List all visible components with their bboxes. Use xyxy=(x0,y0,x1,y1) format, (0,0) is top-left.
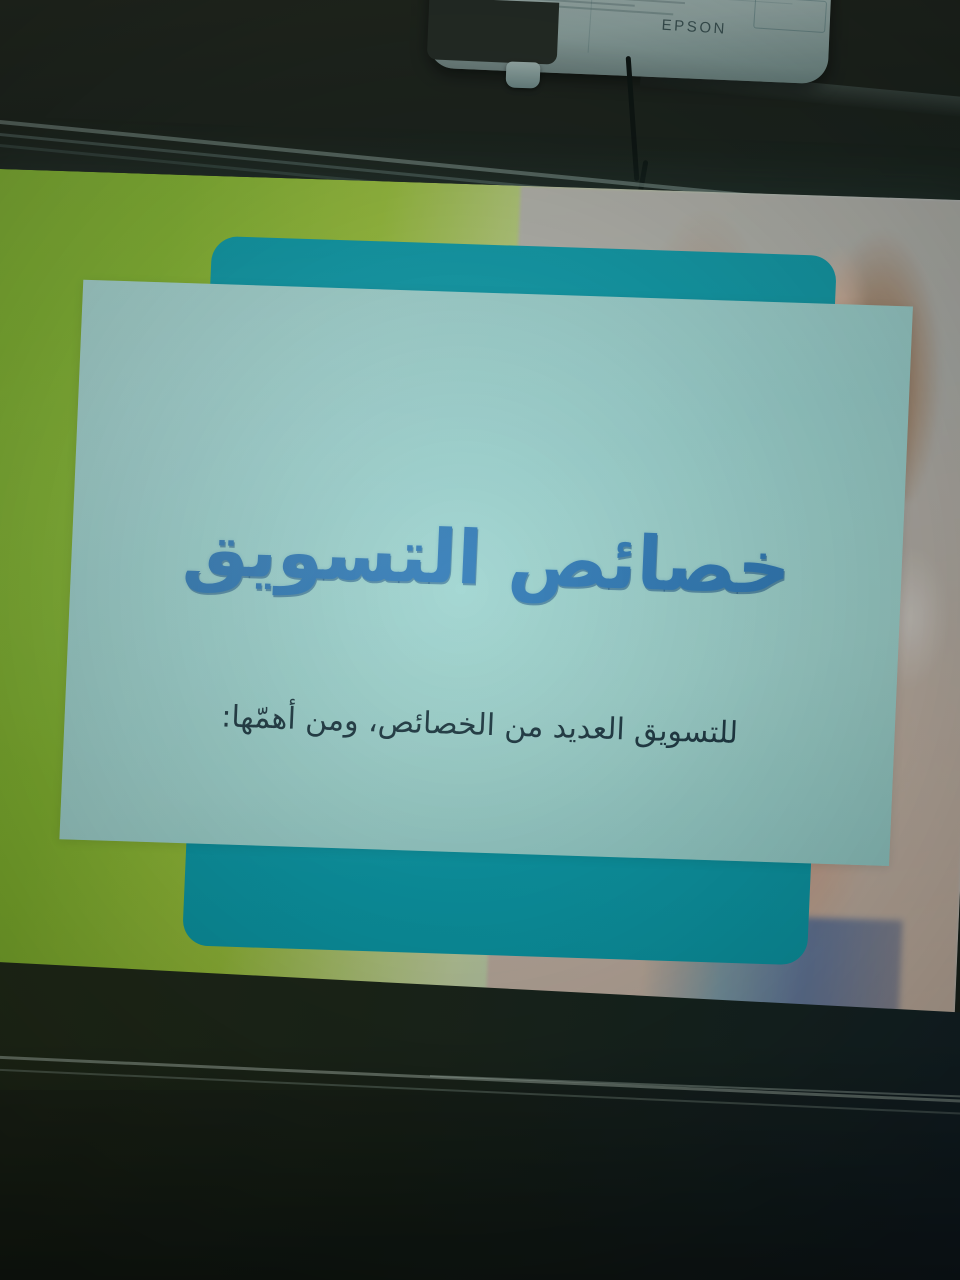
projector-dark-housing xyxy=(427,0,559,65)
slide-title: خصائص التسويق xyxy=(70,508,903,612)
slide-background: خصائص التسويق للتسويق العديد من الخصائص،… xyxy=(0,168,960,1040)
mint-text-card: خصائص التسويق للتسويق العديد من الخصائص،… xyxy=(59,280,913,866)
screenshot-root: EPSON خصائص التسويق للتسويق العديد من ال… xyxy=(0,0,960,1280)
wall-below-screen-fill xyxy=(0,1090,960,1280)
projector-adjustment-foot xyxy=(506,61,541,88)
projected-slide-area: خصائص التسويق للتسويق العديد من الخصائص،… xyxy=(0,168,960,1040)
slide-subtitle: للتسويق العديد من الخصائص، ومن أهمّها: xyxy=(64,691,895,760)
